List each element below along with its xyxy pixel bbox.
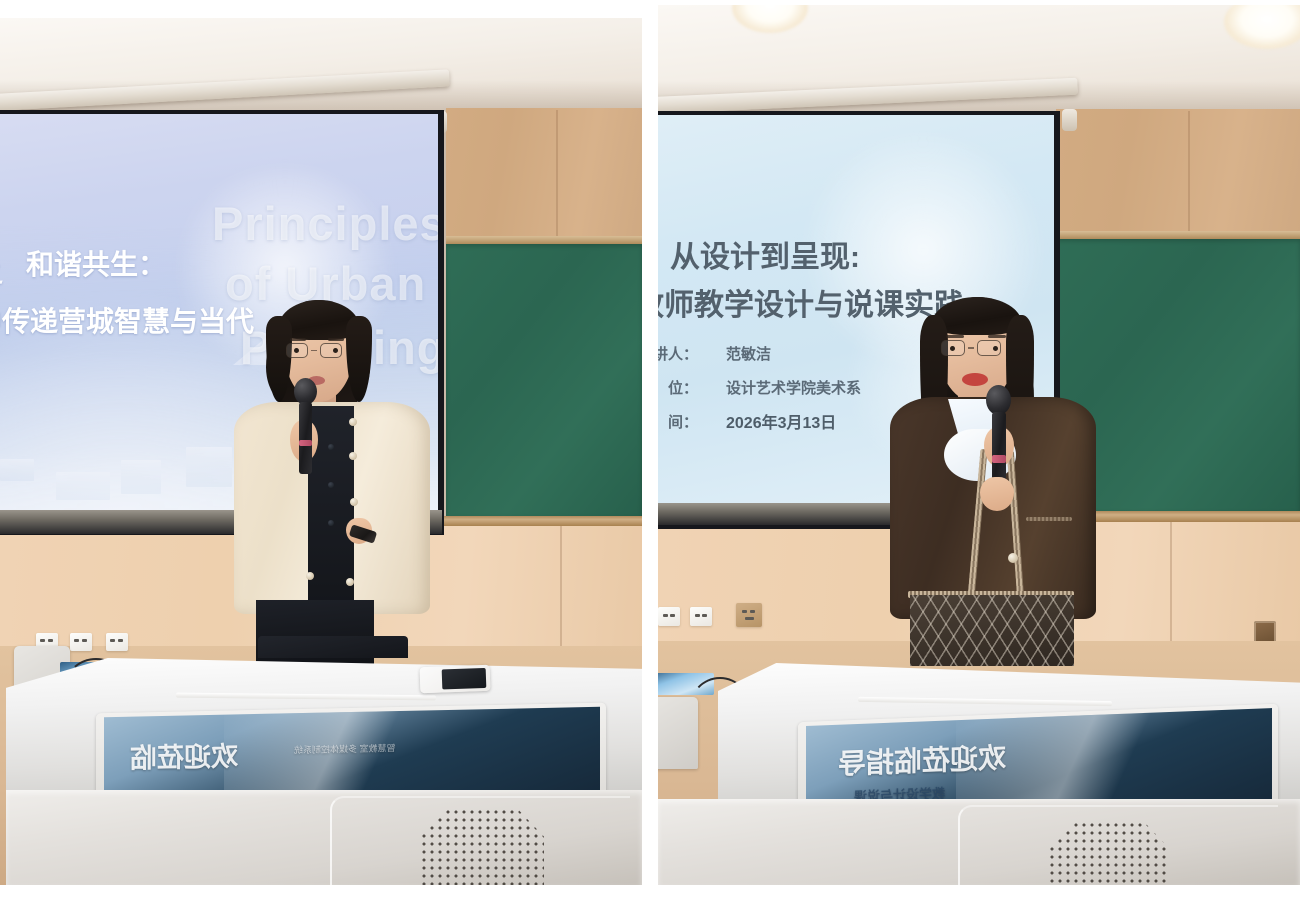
slide-partial-glyph-left: 之 — [0, 251, 3, 290]
chair-behind-lectern — [258, 636, 408, 658]
right-photo: 从设计到呈现: 教师教学设计与说课实践 主讲人： 范敏洁 单 位： 设计艺术学院… — [658, 5, 1300, 885]
presenter-brow-left — [290, 338, 306, 341]
presenter-jacket-button-5 — [306, 572, 314, 580]
wall-seam-lower — [560, 526, 562, 666]
presenter-jacket-button-4 — [346, 578, 354, 586]
presenter-eye-right — [333, 348, 338, 353]
slide-ghost-title-line-1: Principles — [212, 200, 438, 248]
lectern-speaker-grille — [1048, 821, 1170, 885]
wall-access-plate — [1254, 621, 1276, 643]
left-photo: Principles of Urban Planning 之 和谐共生： 中传递… — [0, 18, 642, 885]
presenter-eye-right — [993, 346, 998, 351]
microphone-accent-ring — [992, 455, 1006, 463]
microphone-head — [294, 378, 317, 405]
slide-meta-value-2: 设计艺术学院美术系 — [726, 377, 861, 398]
wall-outlet-1 — [658, 607, 680, 626]
presenter-microphone — [294, 378, 318, 476]
microphone-head — [986, 385, 1011, 415]
presenter-mouth — [962, 373, 988, 386]
chalkboard-top-trim-right — [1056, 231, 1300, 239]
presenter-eye-left — [294, 348, 299, 353]
monitor-reflected-heading-right: 欢迎莅临指导 — [838, 736, 1006, 782]
wall-upper-left — [446, 108, 642, 240]
presenter-jacket-button-2 — [349, 452, 357, 460]
smart-lectern-left[interactable]: 欢迎莅临 智慧教室 多媒体控制系统 — [0, 650, 642, 885]
smart-lectern-right[interactable]: 欢迎莅临指导 教学设计与说课 — [658, 657, 1300, 885]
presenter-inner-button-2 — [328, 482, 334, 488]
microphone-accent-ring — [299, 440, 312, 446]
slide-meta-label-1: 主讲人： — [658, 343, 698, 364]
smartphone-screen — [442, 668, 487, 690]
presenter-skirt — [910, 595, 1074, 666]
presenter-right — [886, 291, 1106, 666]
glasses-bridge — [968, 347, 974, 348]
slide-meta-value-1: 范敏洁 — [726, 343, 771, 364]
wall-seam-right — [1188, 111, 1190, 235]
presenter-brow-right — [328, 338, 344, 341]
slide-subheading-left: 中传递营城智慧与当代 — [0, 300, 254, 340]
lectern-monitor[interactable]: 欢迎莅临 智慧教室 多媒体控制系统 — [104, 707, 600, 803]
presenter-jacket-button — [1008, 553, 1018, 563]
wall-outlet-3 — [736, 603, 762, 627]
presenter-jacket-button-1 — [349, 418, 357, 426]
microphone-body — [299, 402, 312, 474]
monitor-reflected-heading-left: 欢迎莅临 — [130, 734, 238, 775]
presenter-inner-button-3 — [328, 520, 334, 526]
glasses-lens-right — [320, 343, 342, 358]
glasses-bridge — [311, 350, 317, 351]
presenter-jacket-button-3 — [350, 498, 358, 506]
slide-heading-left: 和谐共生： — [26, 243, 166, 283]
slide-meta-label-3: 时 间： — [658, 411, 698, 432]
lectern-speaker-grille — [420, 808, 544, 885]
wall-seam — [556, 110, 558, 240]
monitor-reflected-sub-left: 智慧教室 多媒体控制系统 — [294, 741, 396, 756]
slide-meta-value-3: 2026年3月13日 — [726, 409, 836, 433]
chalkboard-left — [446, 244, 642, 516]
wall-outlet-2 — [70, 633, 92, 651]
chalk-rail-left — [444, 516, 642, 526]
chalkboard-top-trim-left — [446, 236, 642, 244]
presenter-brow-left — [946, 335, 964, 338]
presenter-jacket-pocket-flap — [1026, 517, 1072, 521]
wall-outlet-3 — [106, 633, 128, 651]
presenter-left — [228, 296, 438, 666]
presenter-eye-left — [950, 346, 955, 351]
photo-collage: Principles of Urban Planning 之 和谐共生： 中传递… — [0, 0, 1300, 900]
slide-heading-right: 从设计到呈现: — [670, 232, 860, 276]
smartphone-on-lectern[interactable] — [420, 665, 491, 693]
presenter-brow-right — [988, 335, 1006, 338]
slide-meta-label-2: 单 位： — [658, 377, 698, 398]
screen-housing-endcap-right — [1062, 109, 1077, 131]
presenter-microphone — [986, 385, 1012, 491]
presenter-inner-button-1 — [328, 444, 334, 450]
wall-outlet-2 — [690, 607, 712, 626]
wall-upper-right — [1056, 109, 1300, 235]
